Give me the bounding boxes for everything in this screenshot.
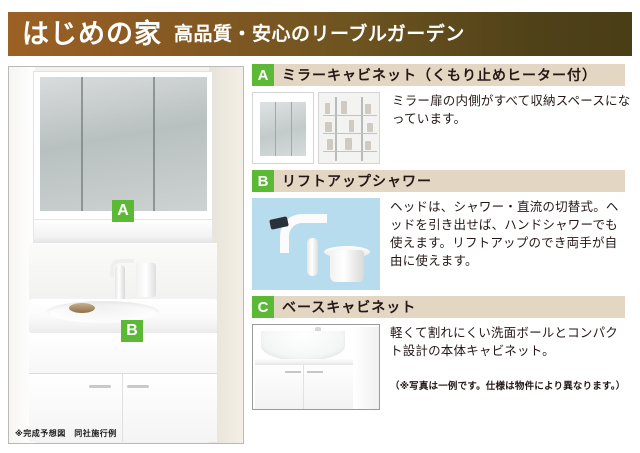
footnote: （※写真は一例です。仕様は物件により異なります。）	[390, 378, 628, 392]
shelf-item	[345, 138, 352, 150]
section-badge-a: A	[252, 64, 274, 86]
shelf-item	[365, 141, 371, 150]
photo-badge-a: A	[112, 200, 134, 222]
section-c-title: ベースキャビネット	[282, 297, 416, 317]
section-b-body: ヘッドは、シャワー・直流の切替式。ヘッドを引き出せば、ハンドシャワーでも使えます…	[252, 192, 632, 290]
cabinet-side-panel	[353, 327, 379, 409]
brand-tagline: 高品質・安心のリーブルガーデン	[174, 25, 465, 44]
section-c-body: 軽くて割れにくい洗面ボールとコンパクト設計の本体キャビネット。 （※写真は一例で…	[252, 318, 632, 410]
section-b-title: リフトアップシャワー	[282, 171, 432, 191]
mirror-cabinet-open-photo	[318, 92, 380, 164]
section-a-thumbnails	[252, 92, 384, 164]
mirror-panel	[260, 102, 306, 156]
door-handle	[127, 385, 149, 388]
section-c-header: C ベースキャビネット	[252, 296, 625, 318]
brand-title: はじめの家	[22, 21, 162, 48]
feature-section-a: A ミラーキャビネット（くもり止めヒーター付）	[252, 64, 632, 164]
mirror-seam	[275, 102, 276, 156]
soap-dish	[69, 303, 95, 313]
lift-up-shower-photo	[252, 198, 380, 290]
shelf-item	[327, 139, 333, 150]
photo-caption: ※完成予想図 同社施行例	[15, 428, 117, 439]
feature-section-b: B リフトアップシャワー ヘッドは、シャワー・直流の切替式。ヘッドを引き出せば、…	[252, 170, 632, 290]
section-a-header: A ミラーキャビネット（くもり止めヒーター付）	[252, 64, 625, 86]
mirror-cabinet-closed-photo	[252, 92, 314, 164]
cabinet-shelf	[33, 219, 213, 245]
cabinet-body	[255, 365, 353, 409]
shower-pipe	[307, 238, 318, 276]
faucet-lever	[136, 263, 156, 297]
section-a-body: ミラー扉の内側がすべて収納スペースになっています。	[252, 86, 632, 164]
section-a-description: ミラー扉の内側がすべて収納スペースになっています。	[392, 92, 632, 128]
mirror-seam	[81, 77, 83, 211]
shelf-item	[367, 123, 373, 132]
mirror-seam	[291, 102, 292, 156]
mirror-seam	[153, 77, 155, 211]
feature-section-c: C ベースキャビネット 軽くて割れにくい洗面ボールとコンパクト設計の本体キャビネ…	[252, 296, 632, 410]
shelf-item	[365, 104, 371, 114]
shelf-line	[323, 133, 377, 134]
door-divider	[303, 365, 304, 409]
shelf-item	[325, 103, 330, 114]
shelf-line	[323, 151, 377, 152]
door-handle	[285, 371, 301, 373]
header-banner: はじめの家 高品質・安心のリーブルガーデン	[8, 12, 632, 56]
section-c-description: 軽くて割れにくい洗面ボールとコンパクト設計の本体キャビネット。	[390, 324, 628, 360]
wash-bowl	[261, 331, 345, 361]
section-a-title: ミラーキャビネット（くもり止めヒーター付）	[282, 65, 597, 85]
mirror-surface	[40, 77, 207, 211]
vanity-unit-main-photo: A B C ※完成予想図 同社施行例	[8, 66, 244, 444]
shelf-line	[323, 115, 377, 116]
section-b-description: ヘッドは、シャワー・直流の切替式。ヘッドを引き出せば、ハンドシャワーでも使えます…	[390, 198, 628, 271]
shelf-item	[341, 101, 347, 114]
door-handle	[89, 385, 111, 388]
shelf-item	[349, 120, 354, 132]
faucet-neck	[115, 265, 125, 303]
faucet-illustration	[104, 255, 138, 303]
section-c-text-column: 軽くて割れにくい洗面ボールとコンパクト設計の本体キャビネット。 （※写真は一例で…	[380, 324, 628, 392]
shelf-item	[325, 122, 332, 132]
section-badge-c: C	[252, 296, 274, 318]
feature-sections: A ミラーキャビネット（くもり止めヒーター付）	[252, 64, 632, 414]
base-cabinet-photo	[252, 324, 380, 410]
section-badge-b: B	[252, 170, 274, 192]
shower-base	[330, 250, 364, 282]
door-divider	[122, 374, 123, 442]
photo-badge-b: B	[121, 320, 143, 342]
section-b-header: B リフトアップシャワー	[252, 170, 625, 192]
mirror-cabinet-illustration	[33, 71, 213, 221]
door-handle	[307, 371, 323, 373]
